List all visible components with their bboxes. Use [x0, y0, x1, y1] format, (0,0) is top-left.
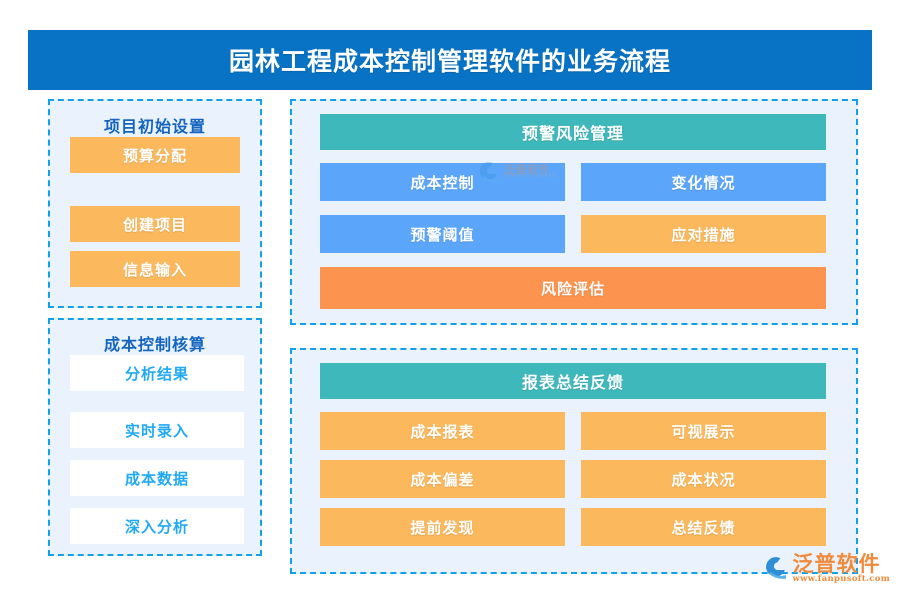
brand-logo: 泛普软件 www.fanpusoft.com [765, 545, 890, 591]
node-change-status[interactable]: 变化情况 [581, 163, 826, 201]
node-summary-feedback[interactable]: 总结反馈 [581, 508, 826, 546]
report-feedback-node-grid: 成本报表 可视展示 成本偏差 成本状况 提前发现 总结反馈 [320, 412, 826, 546]
node-create-project[interactable]: 创建项目 [70, 206, 240, 242]
node-in-depth-analysis[interactable]: 深入分析 [70, 508, 244, 544]
panel-initial-setup-title: 项目初始设置 [50, 113, 260, 137]
node-cost-data[interactable]: 成本数据 [70, 460, 244, 496]
node-early-detection[interactable]: 提前发现 [320, 508, 565, 546]
flowchart-page: 园林工程成本控制管理软件的业务流程 项目初始设置 创建项目 信息输入 预算分配 … [0, 0, 900, 600]
node-cost-deviation[interactable]: 成本偏差 [320, 460, 565, 498]
node-budget-allocation[interactable]: 预算分配 [70, 137, 240, 173]
page-title-bar: 园林工程成本控制管理软件的业务流程 [28, 30, 872, 90]
node-cost-status[interactable]: 成本状况 [581, 460, 826, 498]
node-cost-control[interactable]: 成本控制 [320, 163, 565, 201]
panel-report-feedback: 报表总结反馈 成本报表 可视展示 成本偏差 成本状况 提前发现 总结反馈 [290, 348, 858, 574]
node-realtime-entry[interactable]: 实时录入 [70, 412, 244, 448]
panel-cost-accounting: 成本控制核算 实时录入 成本数据 深入分析 分析结果 [48, 318, 262, 556]
panel-report-feedback-header: 报表总结反馈 [320, 363, 826, 399]
node-visual-display[interactable]: 可视展示 [581, 412, 826, 450]
node-warning-threshold[interactable]: 预警阈值 [320, 215, 565, 253]
page-title: 园林工程成本控制管理软件的业务流程 [229, 42, 671, 78]
panel-cost-accounting-title: 成本控制核算 [50, 331, 260, 355]
node-response-measures[interactable]: 应对措施 [581, 215, 826, 253]
panel-initial-setup: 项目初始设置 创建项目 信息输入 预算分配 [48, 99, 262, 308]
brand-name-cn: 泛普软件 [793, 553, 890, 575]
panel-risk-warning: 预警风险管理 成本控制 变化情况 预警阈值 应对措施 风险评估 [290, 99, 858, 325]
risk-warning-node-grid: 成本控制 变化情况 预警阈值 应对措施 [320, 163, 826, 253]
brand-logo-text: 泛普软件 www.fanpusoft.com [793, 553, 890, 584]
node-risk-assessment[interactable]: 风险评估 [320, 267, 826, 309]
node-cost-report[interactable]: 成本报表 [320, 412, 565, 450]
fanpu-logo-mark-icon [765, 553, 788, 583]
panel-risk-warning-header: 预警风险管理 [320, 114, 826, 150]
node-analysis-result[interactable]: 分析结果 [70, 355, 244, 391]
node-information-input[interactable]: 信息输入 [70, 251, 240, 287]
brand-url: www.fanpusoft.com [793, 575, 890, 584]
